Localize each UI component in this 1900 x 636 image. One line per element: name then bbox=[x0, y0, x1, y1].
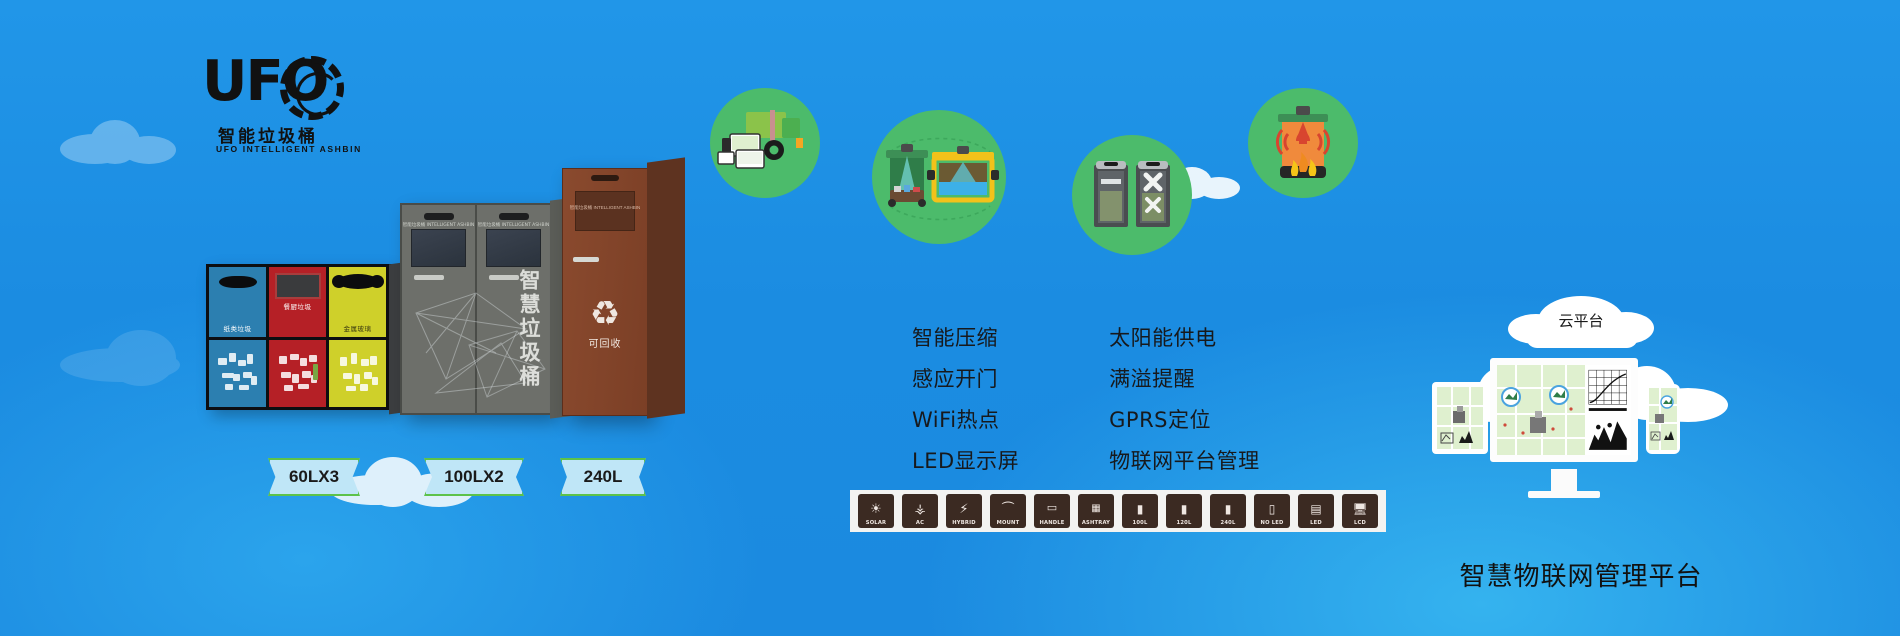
oval-slot-icon bbox=[219, 276, 257, 288]
feature-item: 智能压缩 bbox=[880, 322, 1019, 352]
spec-chip-hybrid: ⚡ HYBRID bbox=[946, 494, 982, 528]
cloud-platform-badge: 云平台 bbox=[1508, 294, 1654, 352]
spec-label: ASHTRAY bbox=[1082, 520, 1110, 526]
spec-label: MOUNT bbox=[997, 520, 1020, 526]
spec-chip-solar: ☀ SOLAR bbox=[858, 494, 894, 528]
monitor-icon bbox=[1077, 371, 1096, 386]
spec-label: HANDLE bbox=[1039, 520, 1064, 526]
logo-english-name: UFO INTELLIGENT ASHBIN bbox=[216, 144, 362, 154]
compartment-label: 餐厨垃圾 bbox=[284, 301, 312, 311]
spec-label: 240L bbox=[1221, 520, 1236, 526]
spec-label: HYBRID bbox=[952, 520, 975, 526]
capacity-label: 100LX2 bbox=[444, 467, 504, 487]
recycle-icon: ♻ bbox=[590, 297, 620, 331]
screen-slot-icon bbox=[275, 273, 321, 299]
bin-100l-icon: ▮ bbox=[1137, 497, 1144, 520]
platform-caption: 智慧物联网管理平台 bbox=[1386, 556, 1776, 593]
sun-icon: ☀ bbox=[870, 497, 882, 520]
spec-chip-240l: ▮ 240L bbox=[1210, 494, 1246, 528]
bin-240l-icon: ▮ bbox=[1225, 497, 1232, 520]
no-led-icon: ▯ bbox=[1269, 497, 1276, 520]
map-markers bbox=[1649, 388, 1677, 450]
feature-label: GPRS定位 bbox=[1109, 404, 1211, 434]
banner-stage: UFO 智能垃圾桶 UFO INTELLIGENT ASHBIN 纸类垃圾 bbox=[0, 0, 1900, 636]
plug-icon: ⚶ bbox=[914, 497, 925, 520]
ufo-ring-icon bbox=[280, 56, 344, 120]
feature-label: 满溢提醒 bbox=[1109, 363, 1195, 393]
spec-chip-lcd: 🖥 LCD bbox=[1342, 494, 1378, 528]
display-screen: 智能垃圾桶 INTELLIGENT ASHBIN bbox=[575, 191, 635, 231]
lcd-icon: 🖥 bbox=[1352, 497, 1367, 520]
capacity-banner-240l: 240L bbox=[560, 458, 646, 496]
handle-icon bbox=[573, 257, 599, 262]
feature-label: 智能压缩 bbox=[912, 322, 998, 352]
feature-label: WiFi热点 bbox=[912, 404, 1000, 434]
twin-bin-right: 智能垃圾桶 INTELLIGENT ASHBIN 智慧垃圾桶 bbox=[477, 205, 550, 413]
spec-label: NO LED bbox=[1261, 520, 1284, 526]
iot-platform-illustration: 云平台 bbox=[1438, 300, 1718, 500]
fleet-management-icon bbox=[710, 88, 820, 198]
fill-level-sensor-icon bbox=[872, 110, 1006, 244]
spec-chip-120l: ▮ 120L bbox=[1166, 494, 1202, 528]
feature-item: GPRS定位 bbox=[1077, 404, 1260, 434]
compartment-label: 纸类垃圾 bbox=[224, 323, 252, 333]
handle-icon: ▭ bbox=[1047, 497, 1057, 520]
sensor-strip-icon bbox=[591, 175, 619, 181]
polygon-graphic bbox=[461, 325, 551, 405]
map-markers bbox=[1437, 387, 1483, 449]
capacity-label: 240L bbox=[584, 467, 623, 487]
bin-compartment-metal-glass: 金属玻璃 bbox=[329, 267, 389, 407]
feature-item: 感应开门 bbox=[880, 363, 1019, 393]
monitor-icon bbox=[880, 453, 899, 468]
feature-label: 物联网平台管理 bbox=[1109, 445, 1260, 475]
monitor-icon bbox=[880, 371, 899, 386]
spec-icon-strip: ☀ SOLAR ⚶ AC ⚡ HYBRID ⏜ MOUNT ▭ HANDLE ▦… bbox=[850, 490, 1386, 532]
led-icon: ▤ bbox=[1310, 497, 1321, 520]
sensor-strip-icon bbox=[424, 213, 454, 220]
feature-item: 太阳能供电 bbox=[1077, 322, 1260, 352]
spec-chip-handle: ▭ HANDLE bbox=[1034, 494, 1070, 528]
feature-item: WiFi热点 bbox=[880, 404, 1019, 434]
panel-caption: 智能垃圾桶 INTELLIGENT ASHBIN bbox=[478, 222, 550, 228]
spec-label: LED bbox=[1310, 520, 1322, 526]
capacity-label: 60LX3 bbox=[289, 467, 339, 487]
spec-label: LCD bbox=[1354, 520, 1366, 526]
product-single-bin: 智能垃圾桶 INTELLIGENT ASHBIN ♻ 可回收 bbox=[562, 168, 648, 416]
map-markers bbox=[1497, 365, 1589, 455]
monitor-icon bbox=[1077, 412, 1096, 427]
spec-chip-no-led: ▯ NO LED bbox=[1254, 494, 1290, 528]
compaction-icon bbox=[1072, 135, 1192, 255]
flower-slot-icon bbox=[337, 274, 379, 289]
spec-label: SOLAR bbox=[866, 520, 886, 526]
product-twin-bin: 智能垃圾桶 INTELLIGENT ASHBIN 智能垃圾桶 INTELLIGE… bbox=[400, 203, 552, 415]
feature-column-right: 太阳能供电 满溢提醒 GPRS定位 物联网平台管理 bbox=[1077, 322, 1260, 475]
bin-120l-icon: ▮ bbox=[1181, 497, 1188, 520]
spec-label: 100L bbox=[1133, 520, 1148, 526]
monitor-stand bbox=[1551, 469, 1577, 491]
wall-mount-icon: ⏜ bbox=[1002, 497, 1015, 520]
fire-alarm-icon bbox=[1248, 88, 1358, 198]
feature-label: 感应开门 bbox=[912, 363, 998, 393]
hybrid-power-icon: ⚡ bbox=[959, 497, 968, 520]
capacity-banner-100lx2: 100LX2 bbox=[424, 458, 524, 496]
monitor-icon bbox=[880, 330, 899, 345]
monitor-base bbox=[1528, 491, 1600, 498]
feature-column-left: 智能压缩 感应开门 WiFi热点 LED显示屏 bbox=[880, 322, 1019, 475]
bin-compartment-kitchen: 餐厨垃圾 bbox=[269, 267, 329, 407]
panel-caption: 智能垃圾桶 INTELLIGENT ASHBIN bbox=[570, 204, 640, 211]
feature-circle-fleet bbox=[710, 88, 820, 198]
display-screen bbox=[486, 229, 541, 267]
analytics-charts bbox=[1585, 365, 1631, 455]
feature-circle-fill-level bbox=[872, 110, 1006, 244]
monitor-icon bbox=[1077, 330, 1096, 345]
map-view bbox=[1649, 388, 1677, 450]
compartment-label: 金属玻璃 bbox=[344, 323, 372, 333]
feature-list: 智能压缩 感应开门 WiFi热点 LED显示屏 太阳能供电 满溢提醒 bbox=[880, 322, 1260, 475]
display-screen bbox=[411, 229, 466, 267]
waste-graphic bbox=[336, 349, 379, 397]
ashtray-icon: ▦ bbox=[1091, 497, 1100, 520]
handle-icon bbox=[414, 275, 444, 280]
feature-item: 满溢提醒 bbox=[1077, 363, 1260, 393]
recycle-label: 可回收 bbox=[589, 335, 622, 350]
capacity-banner-60lx3: 60LX3 bbox=[268, 458, 360, 496]
feature-item: 物联网平台管理 bbox=[1077, 445, 1260, 475]
spec-chip-100l: ▮ 100L bbox=[1122, 494, 1158, 528]
desktop-monitor bbox=[1490, 358, 1638, 462]
brand-logo: UFO 智能垃圾桶 UFO INTELLIGENT ASHBIN bbox=[196, 52, 376, 162]
product-triple-bin: 纸类垃圾 餐厨垃圾 bbox=[206, 264, 392, 410]
feature-circle-compaction bbox=[1072, 135, 1192, 255]
monitor-icon bbox=[880, 412, 899, 427]
feature-circle-fire-alarm bbox=[1248, 88, 1358, 198]
smartphone-device bbox=[1646, 384, 1680, 454]
spec-chip-ac: ⚶ AC bbox=[902, 494, 938, 528]
feature-label: LED显示屏 bbox=[912, 445, 1019, 475]
map-view bbox=[1437, 387, 1483, 449]
waste-graphic bbox=[216, 349, 259, 397]
spec-chip-led: ▤ LED bbox=[1298, 494, 1334, 528]
feature-label: 太阳能供电 bbox=[1109, 322, 1217, 352]
tablet-device bbox=[1432, 382, 1488, 454]
sensor-strip-icon bbox=[499, 213, 529, 220]
monitor-icon bbox=[1077, 453, 1096, 468]
spec-chip-ashtray: ▦ ASHTRAY bbox=[1078, 494, 1114, 528]
panel-caption: 智能垃圾桶 INTELLIGENT ASHBIN bbox=[403, 222, 475, 228]
cloud-platform-label: 云平台 bbox=[1508, 310, 1654, 331]
spec-label: AC bbox=[916, 520, 924, 526]
bin-compartment-paper: 纸类垃圾 bbox=[209, 267, 269, 407]
bin-side-panel bbox=[647, 157, 685, 418]
spec-label: 120L bbox=[1177, 520, 1192, 526]
waste-graphic bbox=[276, 349, 319, 397]
feature-item: LED显示屏 bbox=[880, 445, 1019, 475]
chart-panel bbox=[1585, 365, 1631, 455]
dashboard-screen bbox=[1497, 365, 1631, 455]
spec-chip-mount: ⏜ MOUNT bbox=[990, 494, 1026, 528]
